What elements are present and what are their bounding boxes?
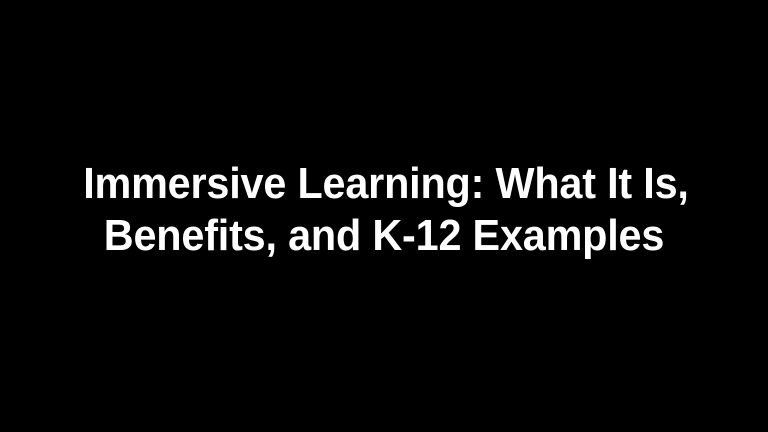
page-title-line-1: Immersive Learning: What It Is, [83, 158, 685, 210]
page-title: Immersive Learning: What It Is, Benefits… [64, 158, 704, 262]
title-card: Immersive Learning: What It Is, Benefits… [0, 0, 768, 432]
page-title-line-2: Benefits, and K-12 Examples [83, 210, 685, 262]
